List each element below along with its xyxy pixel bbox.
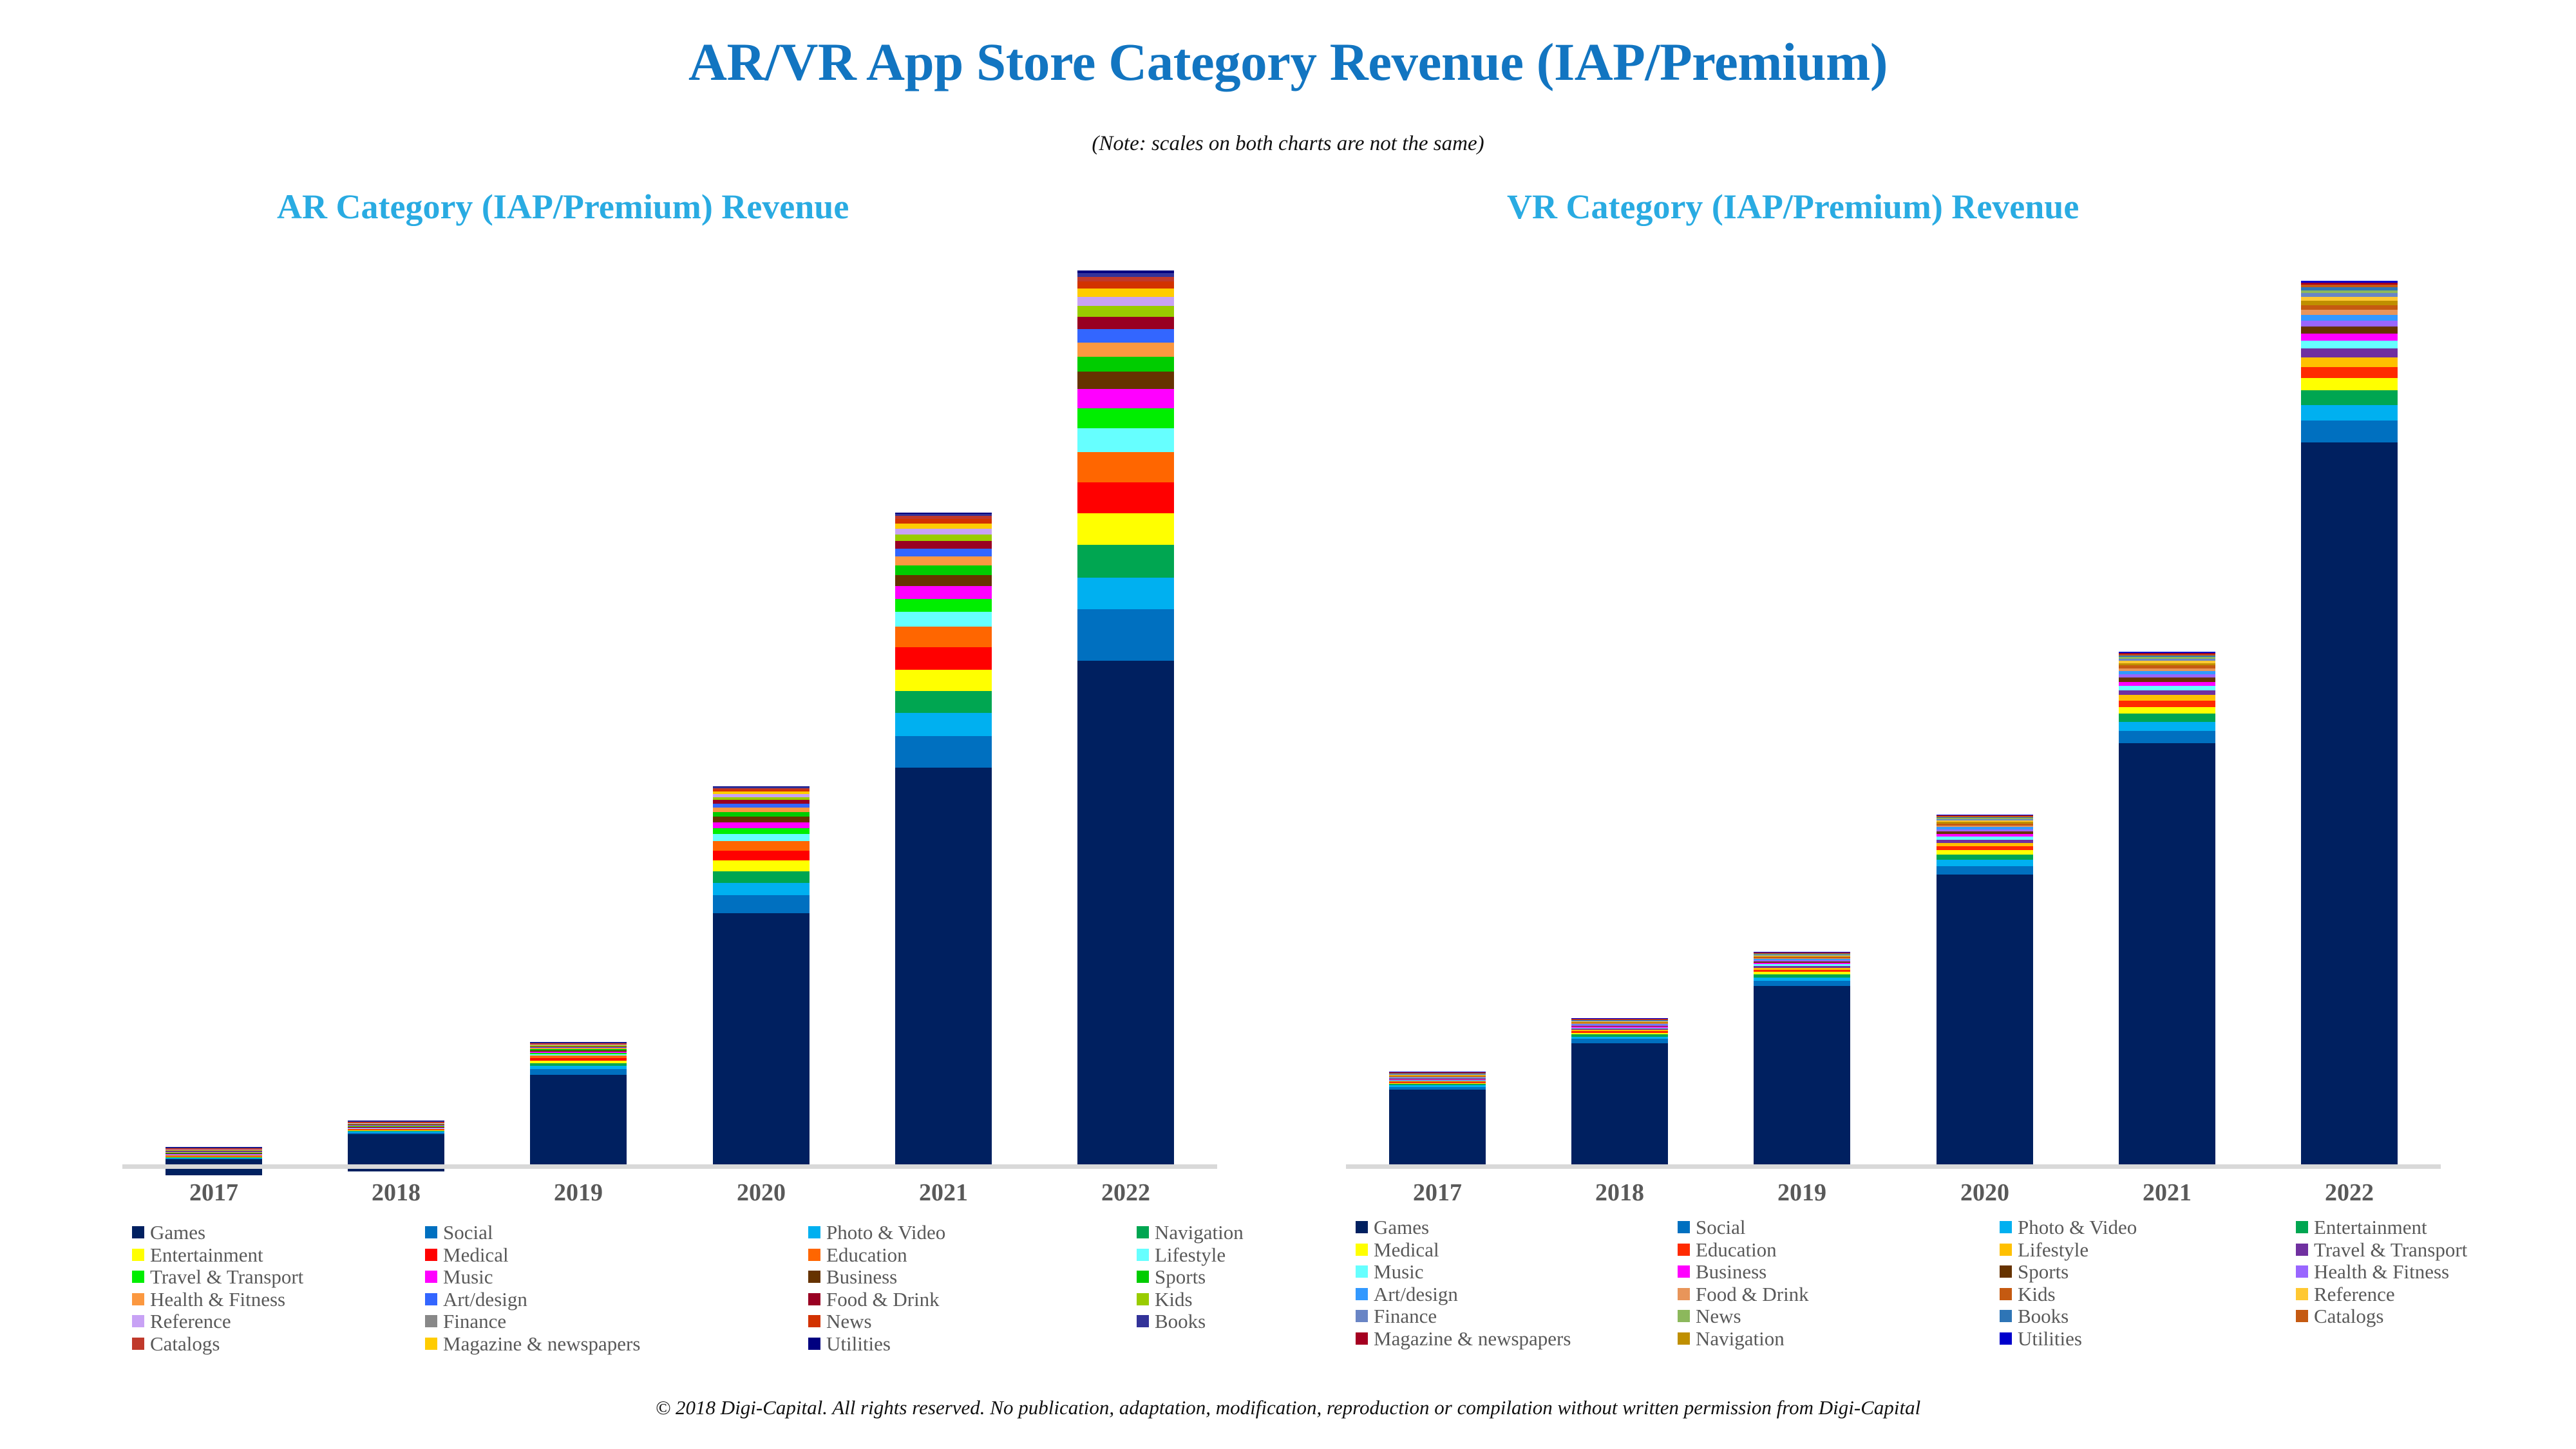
legend-swatch-icon [1356,1221,1368,1233]
segment-lifestyle [2301,357,2398,367]
legend-label: Magazine & newspapers [1374,1329,1571,1349]
segment-sports [713,812,810,817]
segment-education [1077,452,1174,482]
segment-photo-video [1077,578,1174,609]
legend-item-health-fitness[interactable]: Health & Fitness [2296,1262,2449,1282]
legend-item-reference[interactable]: Reference [132,1311,231,1331]
segment-entertainment [895,670,992,690]
segment-lifestyle [895,612,992,627]
legend-label: Games [1374,1217,1429,1237]
segment-reference [895,529,992,535]
legend-item-travel-transport[interactable]: Travel & Transport [132,1267,303,1287]
segment-photo-video [895,713,992,736]
legend-swatch-icon [2296,1310,2308,1322]
legend-item-sports[interactable]: Sports [2000,1262,2069,1282]
legend-swatch-icon [2000,1221,2012,1233]
legend-label: Games [150,1222,205,1242]
legend-label: Business [826,1267,897,1287]
legend-swatch-icon [425,1249,437,1261]
legend-label: Books [1155,1311,1206,1331]
x-axis-label-2018: 2018 [1571,1179,1668,1207]
bar-2022[interactable] [2301,281,2398,1166]
legend-item-utilities[interactable]: Utilities [2000,1329,2082,1349]
x-axis-label-2018: 2018 [348,1179,444,1207]
legend-item-lifestyle[interactable]: Lifestyle [2000,1240,2088,1260]
legend-item-utilities[interactable]: Utilities [808,1334,891,1354]
bar-2020[interactable] [713,786,810,1166]
segment-food-drink [895,541,992,549]
legend-swatch-icon [808,1271,820,1283]
segment-navigation [713,871,810,883]
segment-sports [1077,357,1174,372]
legend-swatch-icon [1678,1244,1690,1256]
legend-swatch-icon [132,1271,144,1283]
segment-games [530,1075,627,1166]
legend-swatch-icon [2296,1221,2308,1233]
segment-food-drink [1077,317,1174,329]
segment-news [1077,281,1174,289]
segment-navigation [895,691,992,714]
ar-plot-area [122,270,1217,1166]
legend-swatch-icon [1678,1265,1690,1278]
segment-games [1754,986,1850,1166]
segment-travel-transport [2301,348,2398,357]
x-axis-label-2020: 2020 [713,1179,810,1207]
legend-label: Lifestyle [2018,1240,2088,1260]
legend-label: News [826,1311,872,1331]
legend-swatch-icon [132,1293,144,1305]
segment-medical [713,851,810,860]
legend-item-social[interactable]: Social [1678,1217,1746,1237]
legend-item-art-design[interactable]: Art/design [425,1289,527,1309]
legend-swatch-icon [2000,1310,2012,1322]
bar-2022[interactable] [1077,270,1174,1166]
legend-swatch-icon [1678,1310,1690,1322]
legend-swatch-icon [132,1226,144,1238]
segment-catalogs [1077,277,1174,281]
bar-2019[interactable] [530,1042,627,1166]
segment-entertainment [713,860,810,871]
segment-games [1077,661,1174,1166]
legend-swatch-icon [2000,1244,2012,1256]
segment-medical [2119,707,2215,714]
segment-lifestyle [1077,428,1174,452]
legend-item-social[interactable]: Social [425,1222,493,1242]
segment-medical [1937,850,2033,855]
segment-health-fitness [895,556,992,565]
segment-business [713,817,810,822]
legend-item-entertainment[interactable]: Entertainment [132,1245,263,1265]
segment-magazine-newspapers [895,524,992,529]
legend-label: Sports [1155,1267,1206,1287]
legend-label: Music [443,1267,493,1287]
bar-2019[interactable] [1754,952,1850,1166]
segment-travel-transport [895,599,992,612]
vr-legend: GamesMedicalMusicArt/designFinanceMagazi… [1356,1217,2450,1340]
legend-item-entertainment[interactable]: Entertainment [2296,1217,2427,1237]
segment-business [895,575,992,586]
legend-item-catalogs[interactable]: Catalogs [132,1334,220,1354]
segment-lifestyle [713,834,810,841]
segment-photo-video [1937,860,2033,866]
legend-item-music[interactable]: Music [1356,1262,1424,1282]
legend-label: Sports [2018,1262,2069,1282]
legend-item-news[interactable]: News [1678,1306,1741,1326]
segment-education [2301,367,2398,378]
segment-games [1937,875,2033,1166]
legend-label: Health & Fitness [2314,1262,2449,1282]
segment-games [1571,1043,1668,1167]
legend-label: Utilities [2018,1329,2082,1349]
segment-travel-transport [2119,690,2215,696]
legend-swatch-icon [1678,1332,1690,1345]
legend-swatch-icon [1356,1332,1368,1345]
segment-games [713,913,810,1166]
segment-music [895,586,992,598]
legend-item-navigation[interactable]: Navigation [1678,1329,1785,1349]
segment-medical [1077,482,1174,513]
legend-swatch-icon [1137,1315,1149,1327]
segment-games [2301,442,2398,1166]
x-axis-label-2019: 2019 [1754,1179,1850,1207]
segment-social [713,895,810,913]
segment-games [895,768,992,1166]
legend-swatch-icon [132,1249,144,1261]
legend-label: Education [826,1245,907,1265]
segment-sports [895,565,992,575]
legend-item-photo-video[interactable]: Photo & Video [2000,1217,2137,1237]
legend-label: Photo & Video [2018,1217,2137,1237]
legend-swatch-icon [1356,1244,1368,1256]
legend-label: Art/design [1374,1284,1458,1304]
vr-plot-area [1346,270,2441,1166]
segment-art-design [1077,329,1174,343]
legend-label: Utilities [826,1334,891,1354]
legend-item-games[interactable]: Games [132,1222,205,1242]
segment-navigation [2301,301,2398,305]
legend-item-travel-transport[interactable]: Travel & Transport [2296,1240,2467,1260]
legend-swatch-icon [2000,1288,2012,1300]
bar-2017[interactable] [1389,1072,1486,1166]
segment-photo-video [713,883,810,896]
segment-reference [1077,297,1174,307]
segment-business [1077,372,1174,389]
segment-social [1937,866,2033,875]
legend-label: Magazine & newspapers [443,1334,640,1354]
legend-item-business[interactable]: Business [1678,1262,1766,1282]
legend-label: Finance [1374,1306,1437,1326]
segment-music [713,822,810,828]
legend-label: Books [2018,1306,2069,1326]
segment-entertainment [1077,513,1174,545]
legend-item-news[interactable]: News [808,1311,872,1331]
legend-label: Reference [150,1311,231,1331]
x-axis-label-2022: 2022 [1077,1179,1174,1207]
legend-item-kids[interactable]: Kids [2000,1284,2056,1304]
legend-label: Education [1696,1240,1777,1260]
legend-item-lifestyle[interactable]: Lifestyle [1137,1245,1226,1265]
segment-entertainment [1937,855,2033,860]
segment-social [1077,609,1174,661]
legend-label: Navigation [1155,1222,1244,1242]
legend-item-food-drink[interactable]: Food & Drink [1678,1284,1809,1304]
ar-legend: GamesEntertainmentTravel & TransportHeal… [132,1222,1227,1345]
legend-item-business[interactable]: Business [808,1267,897,1287]
x-axis-label-2017: 2017 [1389,1179,1486,1207]
segment-lifestyle [2119,695,2215,700]
legend-label: Music [1374,1262,1424,1282]
x-axis-label-2020: 2020 [1937,1179,2033,1207]
segment-education [713,841,810,851]
legend-swatch-icon [2000,1332,2012,1345]
legend-item-finance[interactable]: Finance [1356,1306,1437,1326]
segment-kids [895,535,992,541]
legend-item-education[interactable]: Education [808,1245,907,1265]
bar-2020[interactable] [1937,815,2033,1166]
bar-2018[interactable] [348,1121,444,1166]
bar-2018[interactable] [1571,1018,1668,1166]
legend-item-medical[interactable]: Medical [1356,1240,1439,1260]
segment-health-fitness [1077,343,1174,357]
vr-chart-title: VR Category (IAP/Premium) Revenue [1507,187,2079,227]
x-axis-label-2019: 2019 [530,1179,627,1207]
legend-item-catalogs[interactable]: Catalogs [2296,1306,2384,1326]
legend-item-navigation[interactable]: Navigation [1137,1222,1244,1242]
segment-travel-transport [713,828,810,835]
segment-entertainment [2119,714,2215,722]
legend-swatch-icon [808,1293,820,1305]
x-axis-label-2021: 2021 [895,1179,992,1207]
legend-swatch-icon [1678,1288,1690,1300]
legend-label: Navigation [1696,1329,1785,1349]
legend-item-photo-video[interactable]: Photo & Video [808,1222,945,1242]
legend-label: Food & Drink [826,1289,940,1309]
legend-swatch-icon [132,1315,144,1327]
segment-education [895,627,992,647]
x-axis-label-2017: 2017 [166,1179,262,1207]
legend-item-kids[interactable]: Kids [1137,1289,1193,1309]
legend-label: Kids [1155,1289,1193,1309]
legend-swatch-icon [2296,1288,2308,1300]
legend-swatch-icon [2296,1244,2308,1256]
x-axis-label-2021: 2021 [2119,1179,2215,1207]
legend-swatch-icon [1137,1226,1149,1238]
segment-travel-transport [1077,408,1174,428]
segment-social [1754,981,1850,986]
legend-item-magazine-newspapers[interactable]: Magazine & newspapers [1356,1329,1571,1349]
segment-entertainment [2301,390,2398,405]
segment-photo-video [2119,722,2215,731]
vr-x-axis [1346,1164,2441,1169]
legend-label: Health & Fitness [150,1289,285,1309]
legend-label: Entertainment [150,1245,263,1265]
legend-label: Reference [2314,1284,2395,1304]
segment-navigation [1077,545,1174,578]
legend-label: Travel & Transport [2314,1240,2467,1260]
legend-swatch-icon [1678,1221,1690,1233]
legend-item-education[interactable]: Education [1678,1240,1777,1260]
segment-social [530,1069,627,1075]
segment-education [2119,701,2215,707]
ar-chart-title: AR Category (IAP/Premium) Revenue [277,187,849,227]
legend-swatch-icon [1356,1265,1368,1278]
segment-music [2119,686,2215,690]
segment-art-design [895,549,992,556]
ar-x-axis [122,1164,1217,1169]
legend-label: Business [1696,1262,1766,1282]
legend-item-magazine-newspapers[interactable]: Magazine & newspapers [425,1334,640,1354]
segment-food-drink [2301,310,2398,315]
legend-swatch-icon [425,1271,437,1283]
legend-swatch-icon [1356,1288,1368,1300]
legend-label: Food & Drink [1696,1284,1809,1304]
legend-item-food-drink[interactable]: Food & Drink [808,1289,940,1309]
legend-item-books[interactable]: Books [1137,1311,1206,1331]
segment-photo-video [2301,405,2398,421]
legend-swatch-icon [425,1293,437,1305]
legend-swatch-icon [1137,1293,1149,1305]
legend-swatch-icon [808,1338,820,1350]
legend-swatch-icon [1137,1249,1149,1261]
segment-social [2119,731,2215,743]
segment-games [1389,1090,1486,1168]
legend-label: Social [1696,1217,1746,1237]
legend-swatch-icon [808,1249,820,1261]
segment-medical [895,647,992,670]
legend-item-music[interactable]: Music [425,1267,493,1287]
legend-label: Travel & Transport [150,1267,303,1287]
legend-item-sports[interactable]: Sports [1137,1267,1206,1287]
segment-art-design [2301,315,2398,321]
segment-music [2301,341,2398,348]
legend-label: Art/design [443,1289,527,1309]
segment-social [2301,421,2398,442]
legend-swatch-icon [2000,1265,2012,1278]
legend-item-games[interactable]: Games [1356,1217,1429,1237]
legend-item-books[interactable]: Books [2000,1306,2069,1326]
legend-swatch-icon [425,1315,437,1327]
legend-item-medical[interactable]: Medical [425,1245,509,1265]
bar-2021[interactable] [895,513,992,1166]
legend-item-health-fitness[interactable]: Health & Fitness [132,1289,285,1309]
page-title: AR/VR App Store Category Revenue (IAP/Pr… [0,31,2576,93]
legend-label: Catalogs [2314,1306,2384,1326]
segment-kids [2301,305,2398,310]
segment-social [1571,1039,1668,1043]
segment-magazine-newspapers [1077,289,1174,297]
bar-2017[interactable] [166,1147,262,1166]
legend-label: Social [443,1222,493,1242]
legend-swatch-icon [2296,1265,2308,1278]
legend-swatch-icon [808,1226,820,1238]
legend-swatch-icon [425,1338,437,1350]
legend-label: Medical [1374,1240,1439,1260]
legend-swatch-icon [425,1226,437,1238]
bar-2021[interactable] [2119,652,2215,1166]
legend-label: Lifestyle [1155,1245,1226,1265]
segment-music [1077,389,1174,408]
legend-swatch-icon [1137,1271,1149,1283]
legend-label: News [1696,1306,1741,1326]
copyright-footer: © 2018 Digi-Capital. All rights reserved… [0,1396,2576,1419]
legend-swatch-icon [808,1315,820,1327]
legend-swatch-icon [132,1338,144,1350]
legend-item-art-design[interactable]: Art/design [1356,1284,1458,1304]
legend-label: Catalogs [150,1334,220,1354]
segment-health-fitness [2301,321,2398,327]
segment-business [2301,334,2398,341]
legend-label: Photo & Video [826,1222,945,1242]
segment-kids [1077,306,1174,316]
segment-social [895,736,992,768]
legend-label: Kids [2018,1284,2056,1304]
legend-swatch-icon [1356,1310,1368,1322]
legend-label: Finance [443,1311,506,1331]
legend-label: Medical [443,1245,509,1265]
segment-medical [2301,378,2398,390]
segment-health-fitness [713,808,810,812]
legend-item-finance[interactable]: Finance [425,1311,506,1331]
segment-news [895,519,992,524]
x-axis-label-2022: 2022 [2301,1179,2398,1207]
legend-item-reference[interactable]: Reference [2296,1284,2395,1304]
legend-label: Entertainment [2314,1217,2427,1237]
segment-games [2119,743,2215,1166]
segment-sports [2301,327,2398,334]
scale-note: (Note: scales on both charts are not the… [0,132,2576,156]
